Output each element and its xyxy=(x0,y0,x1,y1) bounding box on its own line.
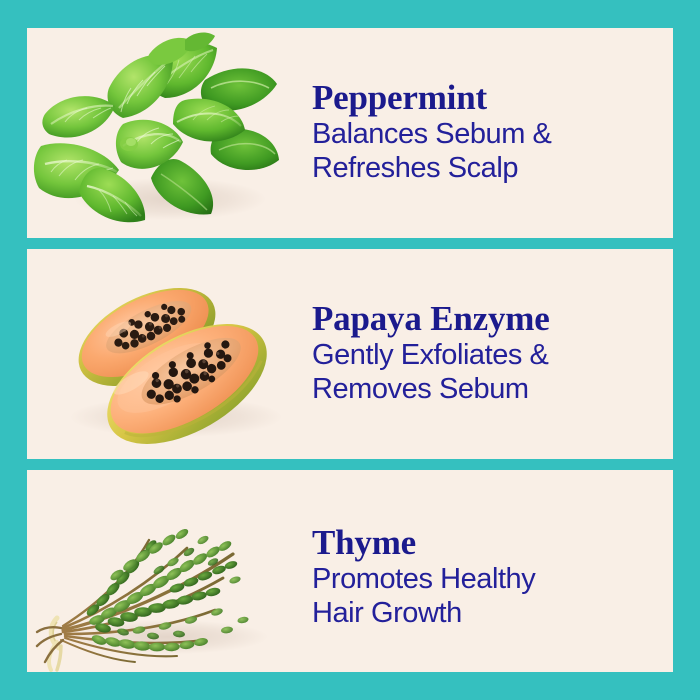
peppermint-text-block: Peppermint Balances Sebum & Refreshes Sc… xyxy=(302,80,673,185)
ingredient-benefits-infographic: Peppermint Balances Sebum & Refreshes Sc… xyxy=(0,0,700,700)
thyme-image-area xyxy=(27,470,302,672)
ingredient-card-peppermint: Peppermint Balances Sebum & Refreshes Sc… xyxy=(27,28,673,238)
papaya-image-area xyxy=(27,249,302,459)
ingredient-name: Papaya Enzyme xyxy=(312,301,659,337)
ingredient-benefit: Gently Exfoliates & Removes Sebum xyxy=(312,339,659,407)
ingredient-benefit: Balances Sebum & Refreshes Scalp xyxy=(312,118,659,186)
thyme-sprigs-icon xyxy=(27,470,302,672)
ingredient-name: Peppermint xyxy=(312,80,659,116)
ingredient-name: Thyme xyxy=(312,525,659,561)
thyme-text-block: Thyme Promotes Healthy Hair Growth xyxy=(302,511,673,630)
peppermint-image-area xyxy=(27,28,302,238)
ingredient-card-papaya-enzyme: Papaya Enzyme Gently Exfoliates & Remove… xyxy=(27,249,673,459)
ingredient-benefit: Promotes Healthy Hair Growth xyxy=(312,563,659,631)
papaya-text-block: Papaya Enzyme Gently Exfoliates & Remove… xyxy=(302,301,673,406)
mint-leaves-icon xyxy=(27,28,302,238)
ingredient-card-thyme: Thyme Promotes Healthy Hair Growth xyxy=(27,470,673,672)
papaya-fruit-icon xyxy=(27,249,302,459)
